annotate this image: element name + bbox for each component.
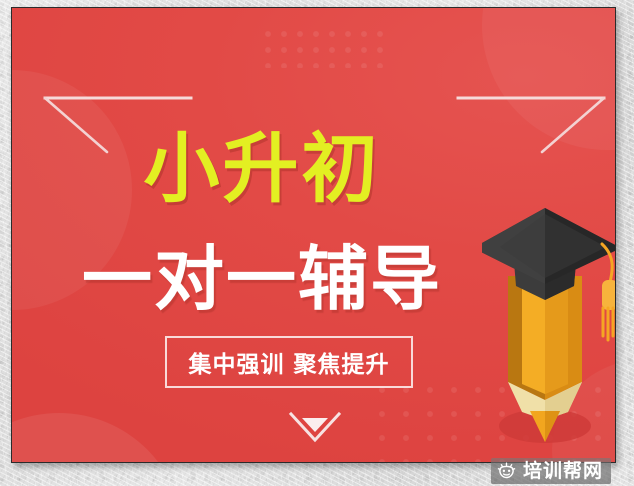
poster-title-line-2: 一对一辅导 — [12, 240, 512, 318]
poster-image-frame: 小升初 一对一辅导 集中强训 聚焦提升 — [11, 7, 616, 463]
poster-background: 小升初 一对一辅导 集中强训 聚焦提升 — [12, 8, 615, 462]
sun-face-icon — [497, 462, 516, 481]
watermark-badge: 培训帮网 — [491, 458, 611, 484]
poster-title-line-1: 小升初 — [12, 128, 512, 210]
chevron-down-icon — [288, 410, 342, 444]
poster-headline-block: 小升初 一对一辅导 — [12, 8, 615, 462]
watermark-text: 培训帮网 — [523, 462, 603, 481]
screenshot-canvas: 小升初 一对一辅导 集中强训 聚焦提升 — [0, 0, 634, 486]
poster-subtitle-text: 集中强训 聚焦提升 — [188, 345, 389, 379]
poster-subtitle-box: 集中强训 聚焦提升 — [165, 336, 413, 388]
